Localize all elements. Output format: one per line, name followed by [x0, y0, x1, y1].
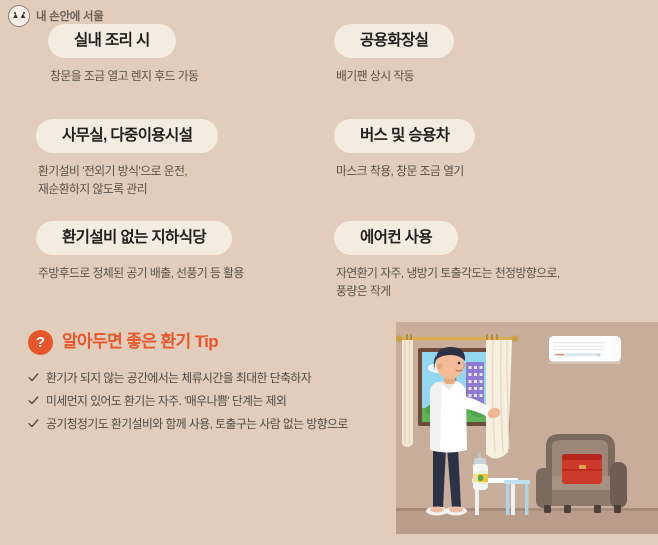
logo-face-glyph: ▲▲ — [12, 12, 27, 20]
man-opening-window-illustration — [396, 322, 658, 534]
card-desc-indoor-cooking: 창문을 조금 열고 렌지 후드 가동 — [50, 67, 198, 85]
card-basement-restaurant: 환기설비 없는 지하식당 주방후드로 정체된 공기 배출, 선풍기 등 활용 — [36, 221, 244, 282]
card-title-air-conditioner: 에어컨 사용 — [334, 221, 458, 255]
tip-item-text: 미세먼지 있어도 환기는 자주. '매우나쁨' 단계는 제외 — [46, 394, 286, 408]
check-icon — [28, 372, 39, 383]
check-icon — [28, 395, 39, 406]
card-desc-public-restroom: 배기팬 상시 작동 — [336, 67, 454, 85]
infographic-page: ▲▲ 내 손안에 서울 실내 조리 시 창문을 조금 열고 렌지 후드 가동 사… — [0, 0, 658, 545]
tip-item-text: 공기청정기도 환기설비와 함께 사용, 토출구는 사람 없는 방향으로 — [46, 417, 348, 431]
card-office-facility: 사무실, 다중이용시설 환기설비 '전외기 방식'으로 운전, 재순환하지 않도… — [36, 119, 218, 199]
card-title-bus-car: 버스 및 승용차 — [334, 119, 475, 153]
ventilation-tip-section: ? 알아두면 좋은 환기 Tip 환기가 되지 않는 공간에서는 체류시간을 최… — [28, 330, 428, 431]
tip-header: ? 알아두면 좋은 환기 Tip — [28, 330, 428, 355]
question-mark-icon: ? — [28, 330, 53, 355]
card-title-office-facility: 사무실, 다중이용시설 — [36, 119, 218, 153]
card-title-basement-restaurant: 환기설비 없는 지하식당 — [36, 221, 232, 255]
card-title-public-restroom: 공용화장실 — [334, 24, 454, 58]
tip-item-text: 환기가 되지 않는 공간에서는 체류시간을 최대한 단축하자 — [46, 371, 311, 385]
card-bus-car: 버스 및 승용차 마스크 착용, 창문 조금 열기 — [334, 119, 475, 180]
card-title-indoor-cooking: 실내 조리 시 — [48, 24, 176, 58]
check-icon — [28, 418, 39, 429]
card-indoor-cooking: 실내 조리 시 창문을 조금 열고 렌지 후드 가동 — [48, 24, 198, 85]
tip-list: 환기가 되지 않는 공간에서는 체류시간을 최대한 단축하자 미세먼지 있어도 … — [28, 371, 428, 431]
tip-list-item: 미세먼지 있어도 환기는 자주. '매우나쁨' 단계는 제외 — [28, 394, 428, 408]
card-desc-office-facility: 환기설비 '전외기 방식'으로 운전, 재순환하지 않도록 관리 — [38, 162, 218, 199]
card-desc-air-conditioner: 자연환기 자주, 냉방기 토출각도는 천정방향으로, 풍량은 작게 — [336, 264, 560, 301]
card-desc-bus-car: 마스크 착용, 창문 조금 열기 — [336, 162, 475, 180]
card-public-restroom: 공용화장실 배기팬 상시 작동 — [334, 24, 454, 85]
tip-list-item: 공기청정기도 환기설비와 함께 사용, 토출구는 사람 없는 방향으로 — [28, 417, 428, 431]
seoul-face-logo-icon: ▲▲ — [8, 5, 30, 27]
card-desc-basement-restaurant: 주방후드로 정체된 공기 배출, 선풍기 등 활용 — [38, 264, 244, 282]
tip-list-item: 환기가 되지 않는 공간에서는 체류시간을 최대한 단축하자 — [28, 371, 428, 385]
logo-text: 내 손안에 서울 — [36, 8, 103, 24]
card-air-conditioner: 에어컨 사용 자연환기 자주, 냉방기 토출각도는 천정방향으로, 풍량은 작게 — [334, 221, 560, 301]
tip-title: 알아두면 좋은 환기 Tip — [62, 333, 218, 352]
